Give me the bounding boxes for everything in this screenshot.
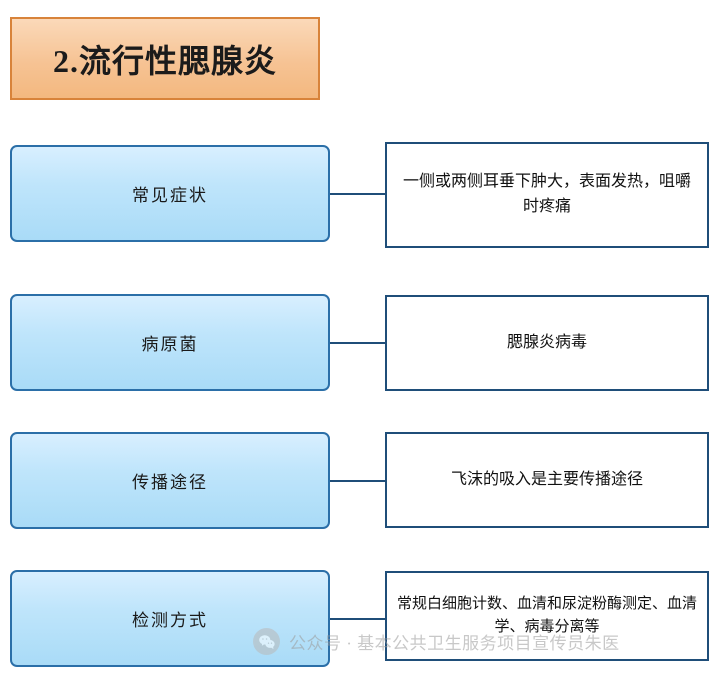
row-label-2: 病原菌 [142,330,199,355]
connector-line-4 [330,618,385,620]
connector-line-1 [330,193,385,195]
row-label-4: 检测方式 [132,606,208,631]
row-label-1: 常见症状 [132,181,208,206]
page-title: 2.流行性腮腺炎 [53,36,277,82]
connector-line-3 [330,480,385,482]
diagram-title-box: 2.流行性腮腺炎 [10,17,320,100]
row-label-box-1: 常见症状 [10,145,330,242]
row-content-1: 一侧或两侧耳垂下肿大，表面发热，咀嚼时疼痛 [397,170,697,220]
watermark: 公众号 · 基本公共卫生服务项目宣传员朱医 [253,628,620,655]
row-content-box-3: 飞沫的吸入是主要传播途径 [385,432,709,528]
wechat-icon [253,628,280,655]
row-label-box-3: 传播途径 [10,432,330,529]
watermark-text: 公众号 · 基本公共卫生服务项目宣传员朱医 [289,629,620,654]
diagram-canvas: 2.流行性腮腺炎 常见症状 一侧或两侧耳垂下肿大，表面发热，咀嚼时疼痛 病原菌 … [0,0,713,678]
row-content-3: 飞沫的吸入是主要传播途径 [451,468,643,493]
row-content-box-1: 一侧或两侧耳垂下肿大，表面发热，咀嚼时疼痛 [385,142,709,248]
row-label-3: 传播途径 [132,468,208,493]
connector-line-2 [330,342,385,344]
row-label-box-2: 病原菌 [10,294,330,391]
row-content-2: 腮腺炎病毒 [507,331,587,356]
row-content-box-2: 腮腺炎病毒 [385,295,709,391]
